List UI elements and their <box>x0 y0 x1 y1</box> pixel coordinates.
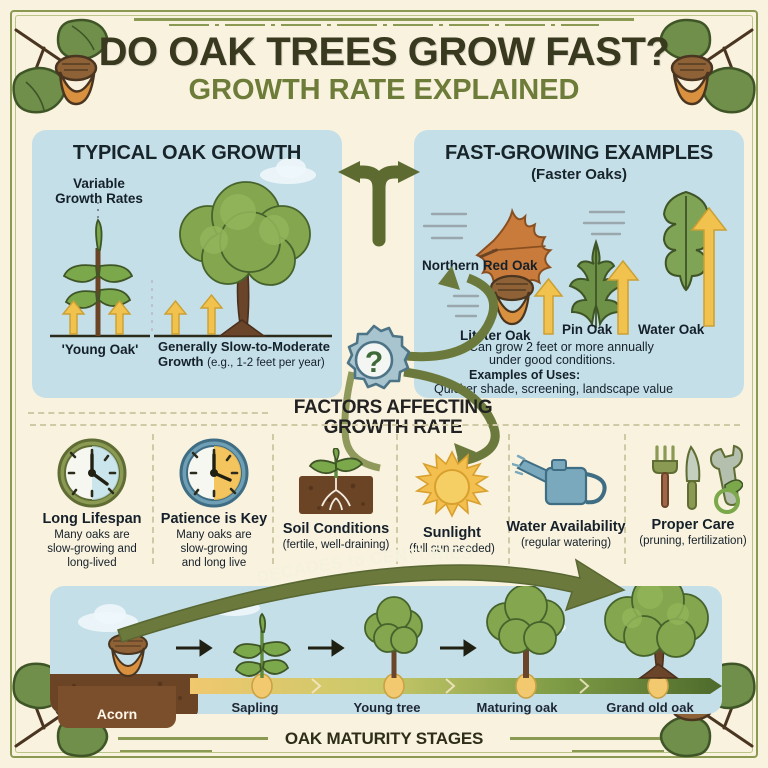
factor-proper-care[interactable]: Proper Care (pruning, fertilization) <box>628 440 758 549</box>
cloud-icon <box>520 620 566 635</box>
right-panel-note-line2: under good conditions. <box>489 353 729 368</box>
header-rule-top <box>134 18 634 21</box>
factor-name: Water Availability <box>496 520 636 536</box>
species-label-water-oak: Water Oak <box>638 322 704 337</box>
young-oak-label: 'Young Oak' <box>48 342 152 357</box>
factor-patience-is-key[interactable]: Patience is Key Many oaks are slow-growi… <box>150 434 278 570</box>
species-label-northern-red-oak: Northern Red Oak <box>422 258 538 273</box>
gear-question-icon: ? <box>338 324 410 396</box>
factor-soil-conditions[interactable]: Soil Conditions (fertile, well-draining) <box>272 444 400 553</box>
divider-dashed <box>30 424 740 426</box>
page-title: DO OAK TREES GROW FAST? <box>0 32 768 73</box>
factor-name: Soil Conditions <box>272 522 400 538</box>
divider-dashed <box>28 412 268 414</box>
factor-desc: (pruning, fertilization) <box>628 535 758 549</box>
cloud-icon <box>94 604 126 624</box>
stage-label-maturing-oak: Maturing oak <box>452 700 582 715</box>
species-label-pin-oak: Pin Oak <box>562 322 612 337</box>
clock-icon <box>150 434 278 512</box>
garden-tools-icon <box>628 440 758 518</box>
clock-icon <box>28 434 156 512</box>
factor-name: Proper Care <box>628 518 758 534</box>
mature-growth-label: Generally Slow-to-Moderate Growth (e.g.,… <box>158 340 338 369</box>
header-rule-dashed <box>169 24 599 26</box>
header: DO OAK TREES GROW FAST? GROWTH RATE EXPL… <box>0 18 768 105</box>
left-panel-title: TYPICAL OAK GROWTH <box>32 142 342 165</box>
footer-rule-right-2 <box>572 750 664 752</box>
factor-name: Patience is Key <box>150 512 278 528</box>
page-subtitle: GROWTH RATE EXPLAINED <box>0 75 768 105</box>
stage-label-acorn: Acorn <box>58 686 176 728</box>
soil-seedling-icon <box>272 444 400 522</box>
stage-label-young-tree: Young tree <box>332 700 442 715</box>
watering-can-icon <box>496 442 636 520</box>
infographic-page: DO OAK TREES GROW FAST? GROWTH RATE EXPL… <box>0 0 768 768</box>
cloud-icon <box>208 600 260 616</box>
factor-water-availability[interactable]: Water Availability (regular watering) <box>496 442 636 551</box>
svg-text:?: ? <box>365 346 383 379</box>
stage-label-sapling: Sapling <box>200 700 310 715</box>
factor-desc: (fertile, well-draining) <box>272 539 400 553</box>
fast-growing-examples-panel: FAST-GROWING EXAMPLES (Faster Oaks) <box>414 130 744 398</box>
right-panel-title: FAST-GROWING EXAMPLES <box>414 142 744 165</box>
factors-heading: FACTORS AFFECTING GROWTH RATE <box>248 398 538 438</box>
uses-heading: Examples of Uses: <box>469 368 580 382</box>
uses-line: Quicker shade, screening, landscape valu… <box>434 382 744 397</box>
factor-name: Long Lifespan <box>28 512 156 528</box>
footer-rule-left-2 <box>120 750 212 752</box>
typical-oak-growth-panel: TYPICAL OAK GROWTH <box>32 130 342 398</box>
variable-growth-rates-label: Variable Growth Rates <box>44 176 154 206</box>
stage-label-grand-old-oak: Grand old oak <box>580 700 720 715</box>
factor-desc: Many oaks are slow-growing and long live <box>150 529 278 570</box>
footer-title: OAK MATURITY STAGES <box>0 729 768 749</box>
factor-desc: Many oaks are slow-growing and long-live… <box>28 529 156 570</box>
right-panel-subtitle: (Faster Oaks) <box>414 166 744 183</box>
factor-long-lifespan[interactable]: Long Lifespan Many oaks are slow-growing… <box>28 434 156 570</box>
factor-desc: (regular watering) <box>496 537 636 551</box>
